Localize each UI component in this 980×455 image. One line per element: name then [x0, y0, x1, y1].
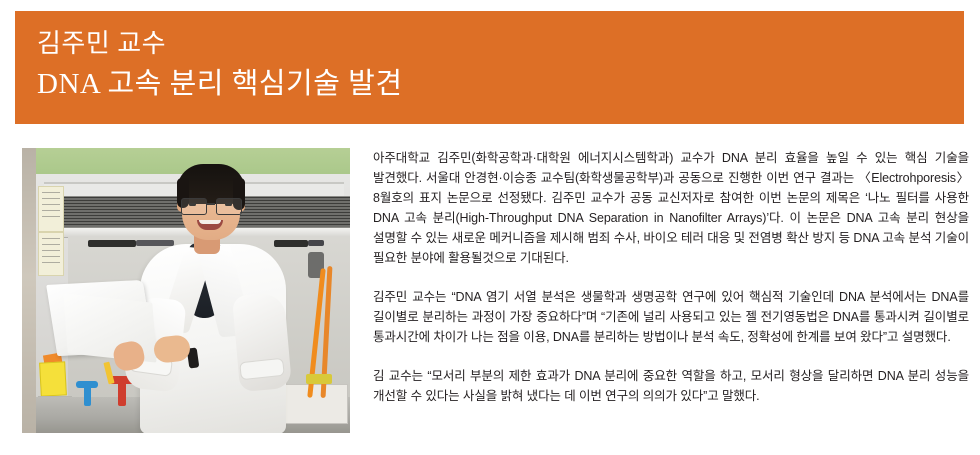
header-subject-name: 김주민 교수	[37, 25, 964, 63]
article-paragraph-1: 아주대학교 김주민(화학공학과·대학원 에너지시스템학과) 교수가 DNA 분리…	[373, 148, 969, 268]
article-paragraph-2: 김주민 교수는 “DNA 염기 서열 분석은 생물학과 생명공학 연구에 있어 …	[373, 287, 969, 347]
photo-illustration	[22, 148, 350, 433]
pencil	[103, 362, 114, 385]
page-header-banner: 김주민 교수 DNA 고속 분리 핵심기술 발견	[15, 11, 964, 124]
eyeglasses-icon	[180, 198, 242, 213]
lens-right	[216, 198, 242, 215]
article-paragraph-3: 김 교수는 “모서리 부분의 제한 효과가 DNA 분리에 중요한 역할을 하고…	[373, 366, 969, 406]
article-body: 아주대학교 김주민(화학공학과·대학원 에너지시스템학과) 교수가 DNA 분리…	[373, 148, 969, 406]
article-content: 아주대학교 김주민(화학공학과·대학원 에너지시스템학과) 교수가 DNA 분리…	[0, 124, 980, 455]
professor-photo	[22, 148, 350, 433]
page-title: DNA 고속 분리 핵심기술 발견	[37, 63, 964, 105]
person-figure	[22, 148, 350, 433]
glasses-bridge	[206, 203, 215, 205]
lens-left	[181, 198, 207, 215]
